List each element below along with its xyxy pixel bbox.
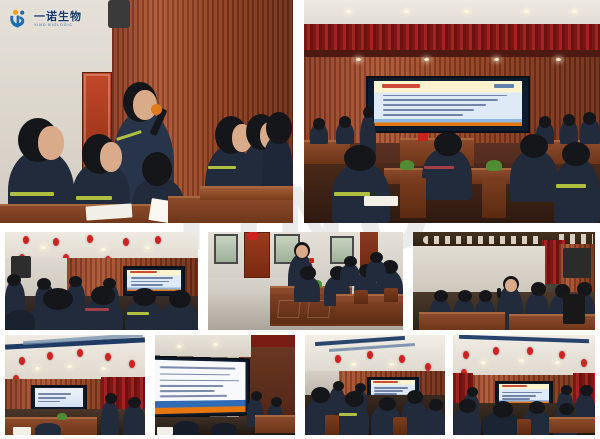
logo-name-en: YINO BIOLOGIC (34, 24, 82, 28)
projection-screen-7 (155, 355, 250, 418)
photo-2-scene (304, 0, 600, 223)
slide-surface-9 (499, 384, 549, 402)
photo-panel-8[interactable] (305, 335, 445, 435)
photo-7-scene (155, 335, 295, 435)
photo-panel-4[interactable] (208, 232, 403, 330)
photo-4-scene (208, 232, 403, 330)
company-logo: 一诺生物 YINO BIOLOGIC (8, 8, 82, 30)
photo-panel-3[interactable] (5, 232, 198, 330)
photo-8-scene (305, 335, 445, 435)
collage-canvas: YINO (0, 0, 600, 439)
photo-panel-1[interactable] (0, 0, 293, 223)
projection-screen (366, 76, 530, 133)
slide-surface-3 (127, 270, 180, 292)
photo-panel-2[interactable] (304, 0, 600, 223)
photo-panel-5[interactable] (413, 232, 595, 330)
photo-3-scene (5, 232, 198, 330)
slide-surface-7 (155, 360, 246, 414)
photo-6-scene (5, 335, 145, 435)
photo-panel-9[interactable] (453, 335, 595, 435)
photo-1-scene (0, 0, 293, 223)
logo-name-cn: 一诺生物 (34, 11, 82, 22)
photo-panel-7[interactable] (155, 335, 295, 435)
photo-panel-6[interactable] (5, 335, 145, 435)
projection-screen-6 (31, 385, 87, 411)
slide-surface-6 (35, 388, 83, 406)
photo-5-scene (413, 232, 595, 330)
photo-9-scene (453, 335, 595, 435)
logo-mark-icon (8, 8, 30, 30)
slide-surface (374, 81, 521, 126)
